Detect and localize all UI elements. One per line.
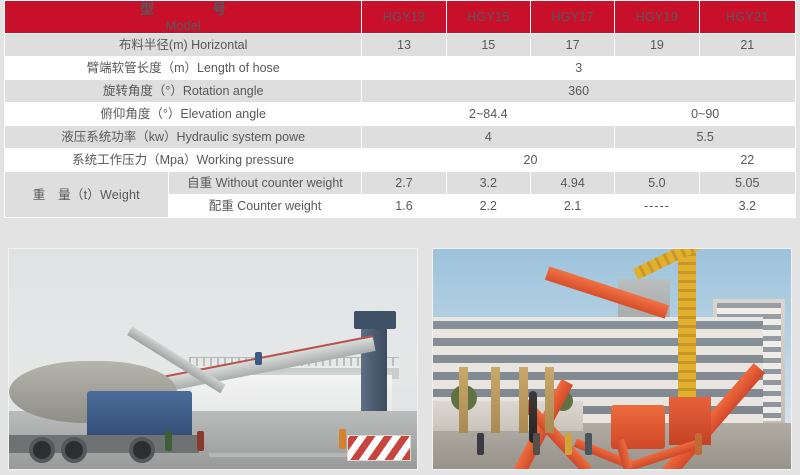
truck-wheel <box>129 437 155 463</box>
specification-table: 型 号 Model HGY13 HGY15 HGY17 HGY19 HGY21 … <box>4 0 796 218</box>
header-model-hgy17: HGY17 <box>530 1 614 34</box>
row-label-weight: 重 量（t）Weight <box>5 172 169 218</box>
worker-figure <box>165 431 172 451</box>
photo-gallery <box>0 243 800 475</box>
worker-figure <box>477 433 484 455</box>
cell-elevation-angle-hgy19-21: 0~90 <box>615 103 796 126</box>
row-label-rotation-angle: 旋转角度（°）Rotation angle <box>5 80 362 103</box>
cell-elevation-angle-hgy13-17: 2~84.4 <box>362 103 615 126</box>
cell-horizontal-hgy17: 17 <box>530 34 614 57</box>
table-row: 布料半径(m) Horizontal 13 15 17 19 21 <box>5 34 796 57</box>
worker-figure <box>565 433 572 455</box>
header-model-cn: 型 号 <box>5 1 361 18</box>
row-label-elevation-angle: 俯仰角度（°）Elevation angle <box>5 103 362 126</box>
table-row: 俯仰角度（°）Elevation angle 2~84.4 0~90 <box>5 103 796 126</box>
cell-without-counter-weight-hgy13: 2.7 <box>362 172 446 195</box>
table-row: 液压系统功率（kw）Hydraulic system powe 4 5.5 <box>5 126 796 149</box>
cell-working-pressure-hgy13-19: 20 <box>362 149 699 172</box>
cell-counter-weight-hgy15: 2.2 <box>446 195 530 218</box>
header-model-hgy21: HGY21 <box>699 1 795 34</box>
photo-concrete-placing-boom-on-batching-plant <box>8 248 418 470</box>
table-header-row: 型 号 Model HGY13 HGY15 HGY17 HGY19 HGY21 <box>5 1 796 34</box>
table-row: 臂端软管长度（m）Length of hose 3 <box>5 57 796 80</box>
row-label-length-of-hose: 臂端软管长度（m）Length of hose <box>5 57 362 80</box>
row-label-hydraulic-system-power: 液压系统功率（kw）Hydraulic system powe <box>5 126 362 149</box>
cell-hydraulic-power-hgy19-21: 5.5 <box>615 126 796 149</box>
header-model-hgy15: HGY15 <box>446 1 530 34</box>
plant-tower-head <box>354 311 396 329</box>
counterweight-box <box>669 397 711 445</box>
header-model-hgy13: HGY13 <box>362 1 446 34</box>
cell-without-counter-weight-hgy19: 5.0 <box>615 172 699 195</box>
cell-without-counter-weight-hgy17: 4.94 <box>530 172 614 195</box>
timber-post <box>491 367 500 433</box>
table-row: 系统工作压力（Mpa）Working pressure 20 22 <box>5 149 796 172</box>
worker-figure <box>695 433 702 455</box>
worker-on-platform <box>255 352 262 365</box>
timber-post <box>519 367 528 433</box>
worker-figure <box>585 433 592 455</box>
photo-orange-placing-boom-at-construction-site <box>432 248 792 470</box>
cell-counter-weight-hgy13: 1.6 <box>362 195 446 218</box>
table-row: 重 量（t）Weight 自重 Without counter weight 2… <box>5 172 796 195</box>
timber-post <box>545 367 554 433</box>
worker-figure <box>339 429 346 449</box>
truck-wheel <box>61 437 87 463</box>
timber-post <box>459 367 468 433</box>
header-model-hgy19: HGY19 <box>615 1 699 34</box>
cell-without-counter-weight-hgy15: 3.2 <box>446 172 530 195</box>
worker-figure <box>533 433 540 455</box>
cell-horizontal-hgy15: 15 <box>446 34 530 57</box>
truck-wheel <box>29 437 55 463</box>
cell-rotation-angle-all: 360 <box>362 80 796 103</box>
cell-counter-weight-hgy21: 3.2 <box>699 195 795 218</box>
row-label-working-pressure: 系统工作压力（Mpa）Working pressure <box>5 149 362 172</box>
header-model-en: Model <box>5 18 361 33</box>
cell-horizontal-hgy19: 19 <box>615 34 699 57</box>
cell-counter-weight-hgy17: 2.1 <box>530 195 614 218</box>
cell-length-of-hose-all: 3 <box>362 57 796 80</box>
header-model-cell: 型 号 Model <box>5 1 362 34</box>
cell-working-pressure-hgy21: 22 <box>699 149 795 172</box>
row-label-without-counter-weight: 自重 Without counter weight <box>168 172 362 195</box>
spec-sheet: 型 号 Model HGY13 HGY15 HGY17 HGY19 HGY21 … <box>0 0 800 475</box>
cell-without-counter-weight-hgy21: 5.05 <box>699 172 795 195</box>
cell-horizontal-hgy21: 21 <box>699 34 795 57</box>
cell-hydraulic-power-hgy13-17: 4 <box>362 126 615 149</box>
table-row: 旋转角度（°）Rotation angle 360 <box>5 80 796 103</box>
row-label-counter-weight: 配重 Counter weight <box>168 195 362 218</box>
striped-safety-barrier <box>347 435 411 461</box>
worker-figure <box>197 431 204 451</box>
cell-horizontal-hgy13: 13 <box>362 34 446 57</box>
row-label-horizontal: 布料半径(m) Horizontal <box>5 34 362 57</box>
cell-counter-weight-hgy19: ----- <box>615 195 699 218</box>
